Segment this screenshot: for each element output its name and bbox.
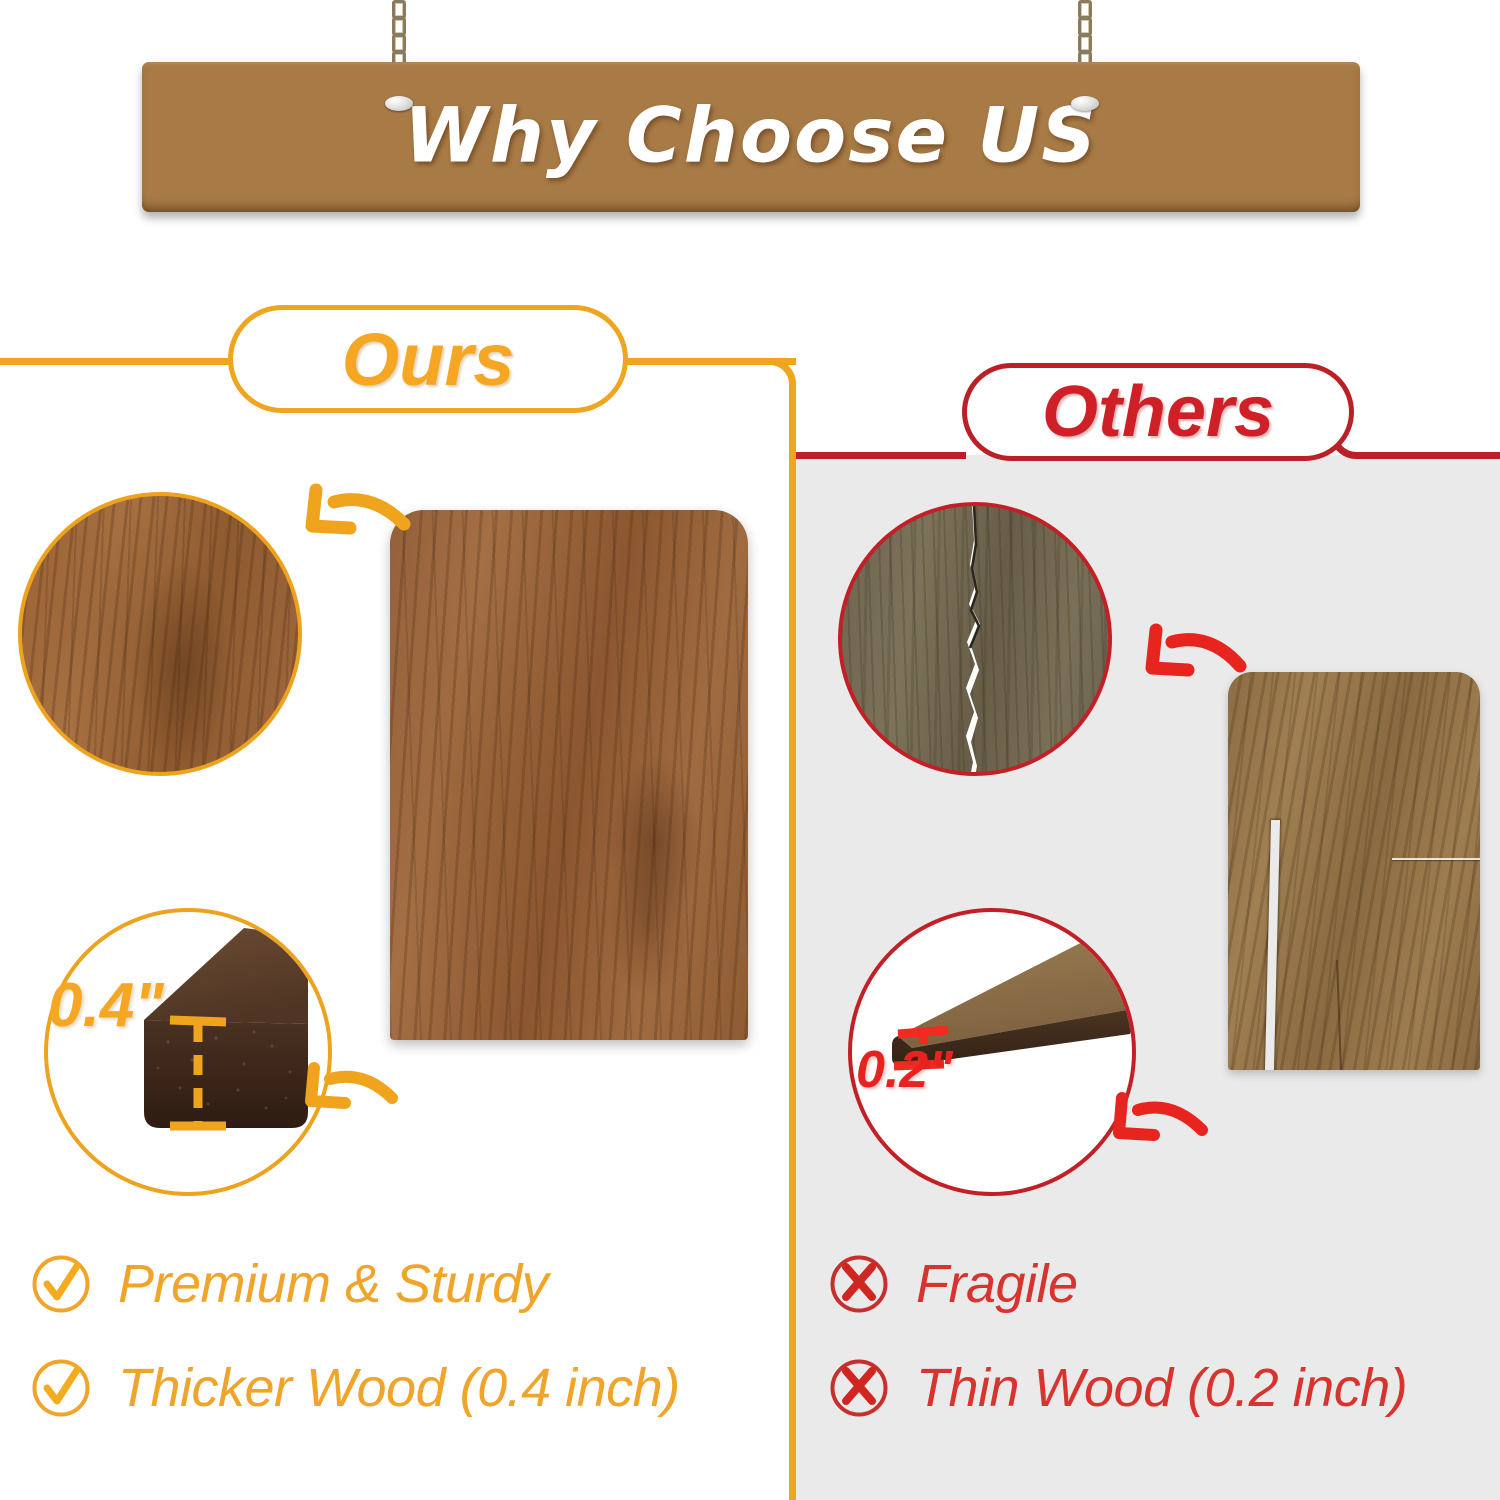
others-divider-line-right [1358,452,1500,459]
curved-arrow-icon [300,1048,400,1124]
others-wood-board [1228,672,1480,1070]
feature-label: Fragile [916,1253,1078,1315]
ours-thickness-label: 0.4" [48,970,164,1041]
curved-arrow-icon [300,468,412,550]
x-circle-icon [828,1253,890,1315]
check-circle-icon [30,1357,92,1419]
wooden-plank-sign: Why Choose US [142,62,1360,212]
list-item: Premium & Sturdy [30,1232,750,1336]
ours-wood-board [390,510,748,1040]
list-item: Thicker Wood (0.4 inch) [30,1336,750,1440]
page-title: Why Choose US [142,91,1360,180]
board-crack [1265,820,1280,1070]
ours-badge: Ours [228,305,628,413]
crack-shape [960,504,990,776]
others-thickness-label: 0.2" [856,1040,953,1100]
ours-edge-illustration [48,912,332,1196]
others-crack-detail-circle [838,502,1112,776]
ours-thickness-detail-circle [44,908,332,1196]
header-banner: Why Choose US [0,0,1500,230]
feature-label: Premium & Sturdy [118,1253,548,1315]
check-circle-icon [30,1253,92,1315]
ours-grain-detail-circle [18,492,302,776]
others-badge: Others [962,363,1354,461]
eyelet-icon [385,96,413,111]
infographic-root: Why Choose US Ours Others [0,0,1500,1500]
feature-label: Thicker Wood (0.4 inch) [118,1357,680,1419]
feature-label: Thin Wood (0.2 inch) [916,1357,1407,1419]
others-feature-list: Fragile Thin Wood (0.2 inch) [828,1232,1488,1440]
curved-arrow-icon [1108,1078,1210,1158]
ours-divider-corner [746,358,796,410]
others-divider-line-left [796,452,966,459]
eyelet-icon [1071,96,1099,111]
column-divider-vertical [789,404,796,1500]
curved-arrow-icon [1140,608,1248,694]
ours-feature-list: Premium & Sturdy Thicker Wood (0.4 inch) [30,1232,750,1440]
board-hairline [1336,960,1342,1070]
list-item: Thin Wood (0.2 inch) [828,1336,1488,1440]
list-item: Fragile [828,1232,1488,1336]
ours-divider-line-left [0,358,232,365]
x-circle-icon [828,1357,890,1419]
board-hairline [1392,858,1480,860]
